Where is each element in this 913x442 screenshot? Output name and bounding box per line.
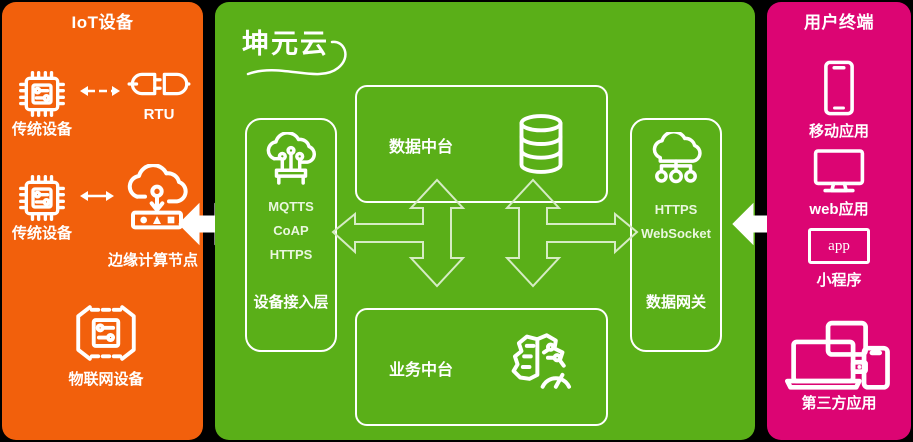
chip-device-icon	[14, 170, 70, 226]
box-data-gateway[interactable]: HTTPS WebSocket 数据网关	[630, 118, 722, 352]
gateway-protocol-0: HTTPS	[632, 202, 720, 217]
cloud-antenna-icon	[259, 132, 323, 190]
panel-iot-devices: IoT设备	[2, 2, 203, 440]
database-icon	[515, 111, 567, 177]
cloud-logo: 坤元云	[240, 22, 370, 84]
user-label-third-party-app: 第三方应用	[801, 392, 876, 413]
rtu-plug-icon	[127, 64, 191, 104]
box-data-platform[interactable]: 数据中台	[355, 85, 608, 203]
bidirectional-arrow-icon	[78, 187, 116, 210]
app-box-icon: app	[808, 228, 870, 264]
box-label-data-platform: 数据中台	[389, 133, 453, 157]
panel-user-title: 用户终端	[767, 8, 911, 33]
user-item-mini-program[interactable]: app 小程序	[767, 228, 911, 290]
user-item-third-party-app[interactable]: 第三方应用	[767, 320, 911, 413]
gateway-protocol-1: WebSocket	[632, 226, 720, 241]
access-protocol-2: HTTPS	[247, 247, 335, 262]
iot-item-label-iot-device: 物联网设备	[68, 368, 143, 389]
multi-device-icon	[784, 320, 894, 392]
iot-item-label-legacy-1: 传统设备	[6, 118, 78, 139]
box-label-data-gateway: 数据网关	[632, 291, 720, 312]
iot-peer-label-edge: 边缘计算节点	[108, 249, 198, 270]
user-label-mini-program: 小程序	[816, 269, 861, 290]
smartphone-icon	[821, 60, 857, 116]
cloud-network-icon	[644, 132, 708, 188]
bidirectional-arrow-icon	[78, 82, 122, 105]
iot-group-legacy-rtu: RTU 传统设备	[6, 64, 202, 142]
iot-device-icon	[64, 302, 148, 364]
monitor-icon	[812, 148, 866, 196]
iot-group-legacy-edge: 传统设备 边缘计算节点	[6, 164, 202, 274]
access-protocol-0: MQTTS	[247, 199, 335, 214]
box-business-platform[interactable]: 业务中台	[355, 308, 608, 426]
user-item-web-app[interactable]: web应用	[767, 148, 911, 219]
iot-peer-label-rtu: RTU	[144, 106, 175, 123]
app-box-text: app	[828, 238, 850, 255]
user-label-web-app: web应用	[809, 198, 868, 219]
iot-item-label-legacy-2: 传统设备	[6, 222, 78, 243]
user-label-mobile-app: 移动应用	[809, 120, 869, 141]
user-item-mobile-app[interactable]: 移动应用	[767, 60, 911, 141]
panel-iot-title: IoT设备	[2, 8, 203, 33]
box-label-device-access-layer: 设备接入层	[247, 291, 335, 312]
iot-group-iot-device: 物联网设备	[38, 302, 174, 394]
ai-brain-icon	[507, 328, 573, 398]
access-protocol-1: CoAP	[247, 223, 335, 238]
box-device-access-layer[interactable]: MQTTS CoAP HTTPS 设备接入层	[245, 118, 337, 352]
panel-user-terminals: 用户终端 移动应用 web应用	[767, 2, 911, 440]
chip-device-icon	[14, 66, 70, 122]
box-label-business-platform: 业务中台	[389, 356, 453, 380]
